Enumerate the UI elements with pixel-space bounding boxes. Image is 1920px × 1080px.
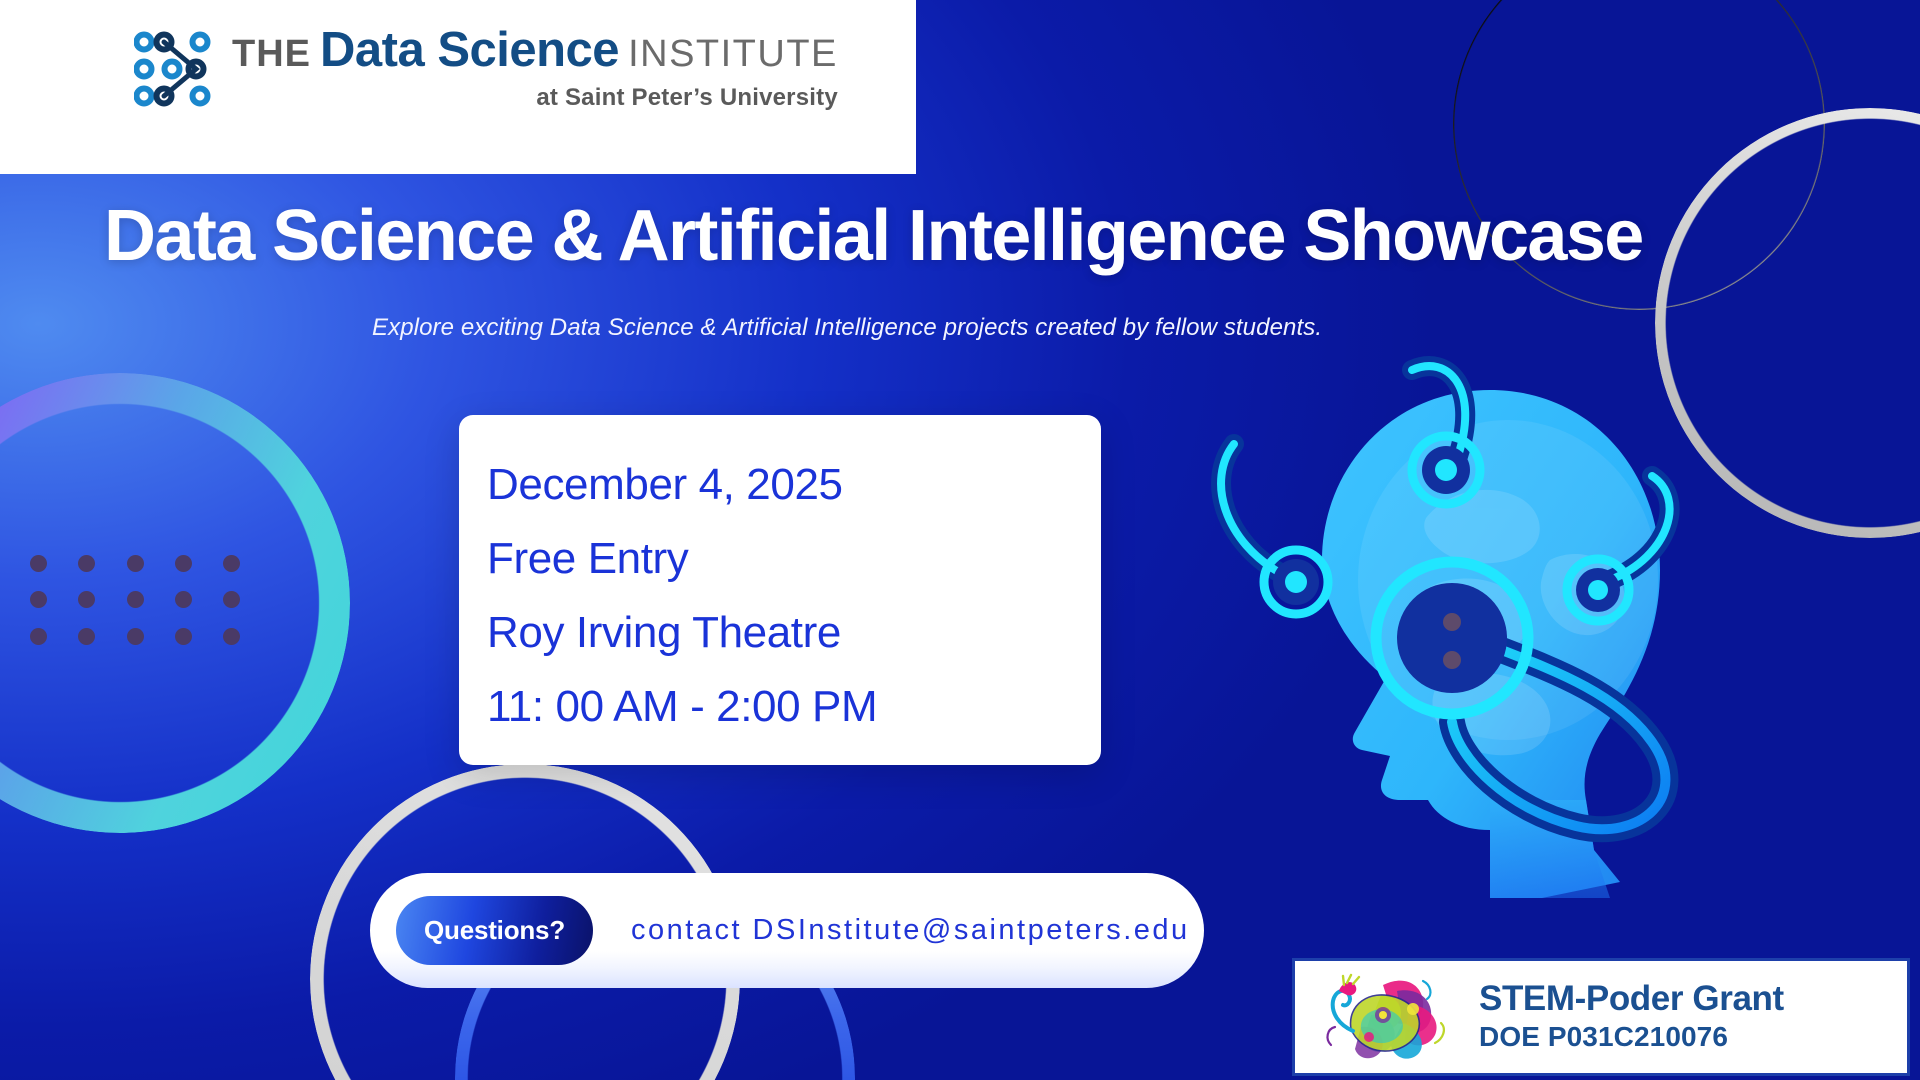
stem-poder-peacock-paisley-icon [1317, 971, 1455, 1063]
ai-head-with-orbit-rings-icon [1190, 330, 1730, 900]
logo-word-data-science: Data Science [320, 26, 619, 75]
dot-grid-decoration [0, 545, 256, 655]
grid-dot [175, 628, 192, 645]
grid-dot [223, 628, 240, 645]
grant-code: DOE P031C210076 [1479, 1021, 1784, 1053]
contact-email-link[interactable]: contact DSInstitute@saintpeters.edu [631, 914, 1190, 947]
page-title: Data Science & Artificial Intelligence S… [104, 195, 1643, 277]
grid-dot [127, 591, 144, 608]
grid-dot [30, 628, 47, 645]
logo-word-institute: INSTITUTE [628, 35, 838, 73]
grid-dot [78, 591, 95, 608]
contact-bar: Questions? contact DSInstitute@saintpete… [370, 873, 1204, 988]
questions-badge[interactable]: Questions? [396, 896, 593, 965]
grid-dot [175, 591, 192, 608]
grid-dot [78, 628, 95, 645]
grid-dot [127, 555, 144, 572]
grid-dot [30, 591, 47, 608]
event-entry: Free Entry [487, 537, 1101, 581]
data-nodes-grid-icon [134, 30, 220, 108]
grid-dot [223, 591, 240, 608]
event-details-card: December 4, 2025 Free Entry Roy Irving T… [459, 415, 1101, 765]
logo-affiliation: at Saint Peter’s University [232, 84, 838, 112]
event-time: 11: 00 AM - 2:00 PM [487, 685, 1101, 729]
institute-logo-card: THE Data Science INSTITUTE at Saint Pete… [0, 0, 916, 174]
poster-canvas: THE Data Science INSTITUTE at Saint Pete… [0, 0, 1920, 1080]
event-date: December 4, 2025 [487, 463, 1101, 507]
page-subtitle: Explore exciting Data Science & Artifici… [372, 314, 1322, 342]
grid-dot [223, 555, 240, 572]
grant-badge: STEM-Poder Grant DOE P031C210076 [1292, 958, 1910, 1076]
grid-dot [30, 555, 47, 572]
grid-dot [175, 555, 192, 572]
event-venue: Roy Irving Theatre [487, 611, 1101, 655]
grid-dot [127, 628, 144, 645]
logo-word-the: THE [232, 35, 311, 73]
grant-title: STEM-Poder Grant [1479, 981, 1784, 1018]
grid-dot [78, 555, 95, 572]
